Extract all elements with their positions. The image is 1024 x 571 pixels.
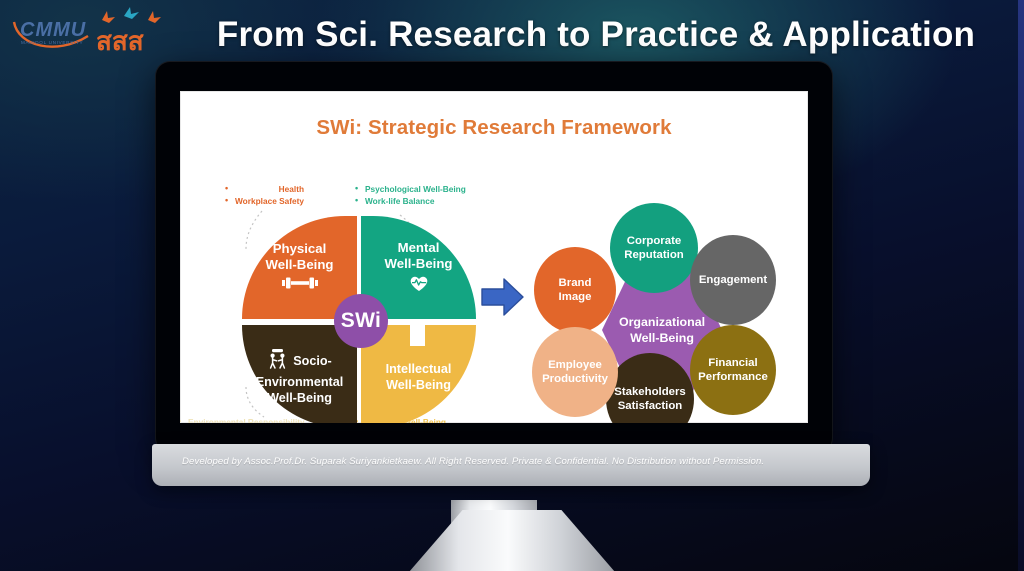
svg-text:MAHIDOL UNIVERSITY: MAHIDOL UNIVERSITY xyxy=(21,40,83,45)
swi-center-badge[interactable]: SWi xyxy=(334,294,388,348)
dumbbell-icon xyxy=(280,276,320,294)
book-icon xyxy=(410,320,425,346)
bubble-label-line2: Performance xyxy=(698,370,768,384)
page-title: From Sci. Research to Practice & Applica… xyxy=(196,15,996,55)
monitor-footer-bar: Developed by Assoc.Prof.Dr. Suparak Suri… xyxy=(152,444,870,486)
copyright-text: Developed by Assoc.Prof.Dr. Suparak Suri… xyxy=(182,456,764,467)
bubble-employee-productivity[interactable]: Employee Productivity xyxy=(532,327,618,417)
quadrant-label-line1: Intellectual xyxy=(386,361,452,377)
quadrant-label-line1: Mental xyxy=(398,240,440,256)
core-label-line2: Well-Being xyxy=(619,330,705,346)
swi-wheel: Physical Well-Being Mental W xyxy=(242,216,476,423)
slide-title: SWi: Strategic Research Framework xyxy=(180,116,808,140)
quadrant-label-line2: Well-Being xyxy=(266,257,334,273)
monitor-screen: SWi: Strategic Research Framework Health… xyxy=(180,91,808,423)
sss-thai-logo: สสส xyxy=(88,4,180,60)
quadrant-label-line3: Well-Being xyxy=(267,390,332,406)
core-label-line1: Organizational xyxy=(619,314,705,330)
note-item: Health xyxy=(235,183,304,195)
bubble-label-line2: Reputation xyxy=(624,248,683,262)
bubble-label-line1: Employee xyxy=(542,358,608,372)
right-arrow-icon xyxy=(480,276,526,318)
people-icon xyxy=(267,348,289,374)
quadrant-label-line2: Well-Being xyxy=(386,377,451,393)
quadrant-label-line1: Socio- xyxy=(293,353,331,369)
cmmu-logo: CMMU MAHIDOL UNIVERSITY xyxy=(8,6,96,58)
bubble-label-line2: Image xyxy=(559,290,592,304)
bubble-engagement[interactable]: Engagement xyxy=(690,235,776,325)
bubble-label-line2: Satisfaction xyxy=(614,399,686,413)
quadrant-label-line2: Well-Being xyxy=(385,256,453,272)
bubble-financial-performance[interactable]: Financial Performance xyxy=(690,325,776,415)
bubble-label-line2: Productivity xyxy=(542,372,608,386)
monitor-base xyxy=(409,510,615,571)
bubble-label-line1: Corporate xyxy=(624,234,683,248)
bubble-label-line1: Engagement xyxy=(699,273,767,287)
quadrant-label-line1: Physical xyxy=(273,241,327,257)
bubble-label-line1: Stakeholders xyxy=(614,385,686,399)
bubble-brand-image[interactable]: Brand Image xyxy=(534,247,616,333)
svg-text:สสส: สสส xyxy=(96,26,144,56)
svg-text:CMMU: CMMU xyxy=(20,19,86,41)
presentation-stage: CMMU MAHIDOL UNIVERSITY สสส From Sci. Re… xyxy=(0,0,1024,571)
heart-pulse-icon xyxy=(409,275,429,296)
note-item: Psychological Well-Being xyxy=(355,183,466,195)
bubble-corporate-reputation[interactable]: Corporate Reputation xyxy=(610,203,698,293)
star-figures xyxy=(102,7,161,23)
quadrant-label-line2: Environmental xyxy=(256,374,343,390)
quadrant-socio-environmental-well-being[interactable]: Socio- Environmental Well-Being xyxy=(242,325,357,423)
bubble-label-line1: Financial xyxy=(698,356,768,370)
monitor-mockup: SWi: Strategic Research Framework Health… xyxy=(156,62,832,452)
organizational-wellbeing-cluster: Organizational Well-Being Brand Image Co… xyxy=(532,203,794,423)
bubble-label-line1: Brand xyxy=(559,276,592,290)
